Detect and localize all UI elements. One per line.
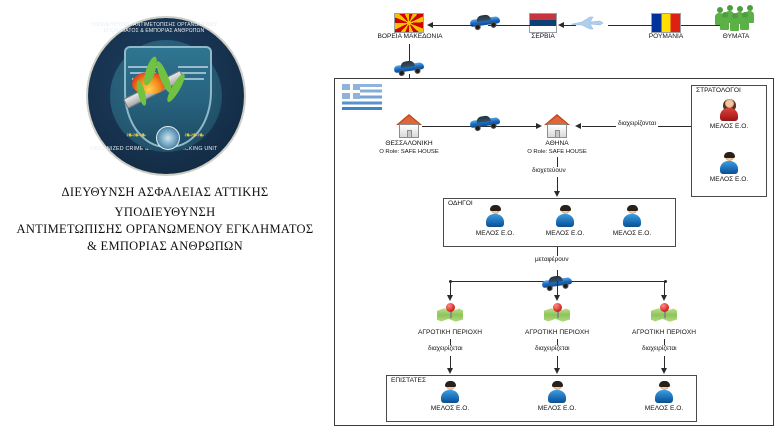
- flag-serbia-icon: [529, 13, 557, 33]
- member-label-foreman-2: ΜΕΛΟΣ Ε.Ο.: [522, 404, 592, 413]
- caption-line-3: ΑΝΤΙΜΕΤΩΠΙΣΗΣ ΟΡΓΑΝΩΜΕΝΟΥ ΕΓΚΛΗΜΑΤΟΣ: [0, 222, 330, 237]
- edge-label-area-2: διαχειρίζεται: [533, 345, 572, 352]
- node-serbia: ΣΕΡΒΙΑ: [513, 32, 573, 41]
- flag-greece-icon: [342, 84, 382, 110]
- node-athens: ΑΘΗΝΑ Ο Role: SAFE HOUSE: [507, 139, 607, 156]
- arrow-area-1-to-foremen: [447, 368, 453, 374]
- group-title-foremen: ΕΠΙΣΤΑΤΕΣ: [390, 377, 427, 384]
- flag-north-macedonia-icon: [394, 13, 424, 33]
- person-female-icon-recruiter-1: [719, 99, 739, 121]
- person-male-icon-foreman-1: [440, 381, 460, 403]
- map-pin-icon-area-1: [437, 303, 463, 323]
- node-victims: ΘΥΜΑΤΑ: [706, 32, 766, 41]
- airplane-icon: [570, 16, 604, 30]
- node-rural-area-2: ΑΓΡΟΤΙΚΗ ΠΕΡΙΟΧΗ: [512, 328, 602, 337]
- caption-line-1: ΔΙΕΥΘΥΝΣΗ ΑΣΦΑΛΕΙΑΣ ΑΤΤΙΚΗΣ: [0, 185, 330, 200]
- node-rural-area-3: ΑΓΡΟΤΙΚΗ ΠΕΡΙΟΧΗ: [619, 328, 709, 337]
- person-male-icon-foreman-3: [654, 381, 674, 403]
- person-male-icon-driver-2: [555, 205, 575, 227]
- person-male-icon-driver-3: [622, 205, 642, 227]
- emblem-laurel-right: ❧❧❧: [184, 130, 206, 142]
- arrow-to-area-3: [661, 295, 667, 301]
- branding-panel: ΥΠΟΔΙΕΥΘΥΝΣΗ ΑΝΤΙΜΕΤΩΠΙΣΗΣ ΟΡΓΑΝΩΜΕΝΟΥ Ε…: [0, 0, 330, 432]
- edge-macedonia-down: [409, 44, 410, 61]
- house-icon-thessaloniki: [396, 114, 422, 138]
- emblem-ring-text-greek: ΥΠΟΔΙΕΥΘΥΝΣΗ ΑΝΤΙΜΕΤΩΠΙΣΗΣ ΟΡΓΑΝΩΜΕΝΟΥ Ε…: [76, 22, 232, 34]
- member-label-foreman-3: ΜΕΛΟΣ Ε.Ο.: [629, 404, 699, 413]
- edge-romania-to-serbia: [608, 25, 652, 26]
- person-male-icon-recruiter-2: [719, 152, 739, 174]
- victims-group-icon: [714, 5, 758, 29]
- unit-emblem: ΥΠΟΔΙΕΥΘΥΝΣΗ ΑΝΤΙΜΕΤΩΠΙΣΗΣ ΟΡΓΑΝΩΜΕΝΟΥ Ε…: [76, 10, 256, 188]
- screenshot-root: ΥΠΟΔΙΕΥΘΥΝΣΗ ΑΝΤΙΜΕΤΩΠΙΣΗΣ ΟΡΓΑΝΩΜΕΝΟΥ Ε…: [0, 0, 782, 432]
- edge-plane-tail: [564, 25, 576, 26]
- edge-label-transport: μεταφέρουν: [533, 256, 571, 263]
- emblem-center-seal: [156, 126, 180, 150]
- group-box-foremen: ΕΠΙΣΤΑΤΕΣ: [386, 375, 697, 422]
- edge-car-tail: [433, 25, 473, 26]
- node-rural-area-1: ΑΓΡΟΤΙΚΗ ΠΕΡΙΟΧΗ: [405, 328, 495, 337]
- member-label-recruiter-1: ΜΕΛΟΣ Ε.Ο.: [694, 122, 764, 131]
- group-title-drivers: ΟΔΗΓΟΙ: [447, 200, 474, 207]
- arrow-area-3-to-foremen: [661, 368, 667, 374]
- house-icon-athens: [544, 114, 570, 138]
- edge-label-recruiters: διαχειρίζονται: [616, 120, 658, 127]
- node-thessaloniki: ΘΕΣΣΑΛΟΝΙΚΗ Ο Role: SAFE HOUSE: [359, 139, 459, 156]
- person-male-icon-foreman-2: [547, 381, 567, 403]
- member-label-recruiter-2: ΜΕΛΟΣ Ε.Ο.: [694, 175, 764, 184]
- edge-label-area-3: διαχειρίζεται: [640, 345, 679, 352]
- arrow-to-drivers: [554, 191, 560, 197]
- arrow-to-athens: [536, 123, 542, 129]
- map-pin-icon-area-3: [651, 303, 677, 323]
- node-north-macedonia: ΒΟΡΕΙΑ ΜΑΚΕΔΟΝΙΑ: [360, 32, 460, 41]
- member-label-driver-2: ΜΕΛΟΣ Ε.Ο.: [530, 229, 600, 238]
- edge-label-area-1: διαχειρίζεται: [426, 345, 465, 352]
- node-romania: ΡΟΥΜΑΝΙΑ: [626, 32, 706, 41]
- arrow-to-area-1: [447, 295, 453, 301]
- trafficking-route-diagram: ΘΥΜΑΤΑ ΡΟΥΜΑΝΙΑ ΣΕΡΒΙΑ ΒΟΡΕ: [330, 0, 782, 432]
- car-icon-serbia-macedonia: [469, 13, 501, 30]
- arrow-area-2-to-foremen: [554, 368, 560, 374]
- organization-caption: ΔΙΕΥΘΥΝΣΗ ΑΣΦΑΛΕΙΑΣ ΑΤΤΙΚΗΣ ΥΠΟΔΙΕΥΘΥΝΣΗ…: [0, 185, 330, 254]
- caption-line-4: & ΕΜΠΟΡΙΑΣ ΑΝΘΡΩΠΩΝ: [0, 239, 330, 254]
- group-title-recruiters: ΣΤΡΑΤΟΛΟΓΟΙ: [695, 87, 742, 94]
- member-label-driver-1: ΜΕΛΟΣ Ε.Ο.: [460, 229, 530, 238]
- person-male-icon-driver-1: [485, 205, 505, 227]
- edge-label-channel: διοχετεύουν: [530, 167, 568, 174]
- caption-line-2: ΥΠΟΔΙΕΥΘΥΝΣΗ: [0, 205, 330, 220]
- arrow-to-area-2: [554, 295, 560, 301]
- member-label-driver-3: ΜΕΛΟΣ Ε.Ο.: [597, 229, 667, 238]
- map-pin-icon-area-2: [544, 303, 570, 323]
- arrow-recruiters-to-athens: [575, 123, 581, 129]
- emblem-laurel-left: ❧❧❧: [126, 130, 148, 142]
- flag-romania-icon: [651, 13, 681, 33]
- member-label-foreman-1: ΜΕΛΟΣ Ε.Ο.: [415, 404, 485, 413]
